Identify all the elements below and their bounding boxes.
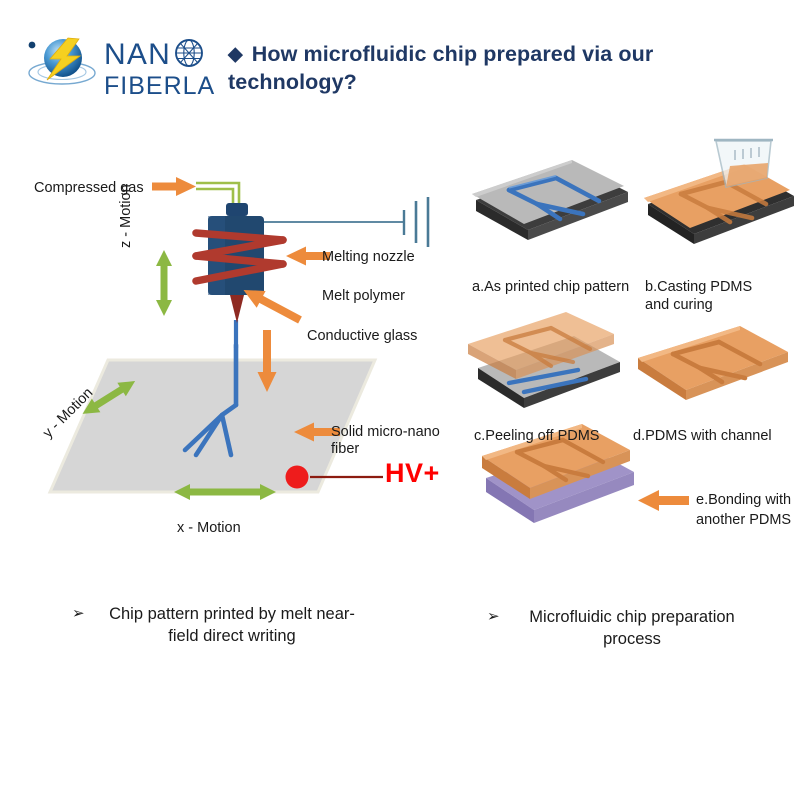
logo-wordmark-nano: NAN xyxy=(104,38,171,71)
arrow-melt-polymer xyxy=(239,282,304,329)
footer-left-line1: Chip pattern printed by melt near- xyxy=(109,605,355,623)
label-conductive-glass: Conductive glass xyxy=(307,328,417,345)
nano-sphere-lightning-icon xyxy=(29,38,95,84)
hv-electrode xyxy=(286,466,384,489)
caption-step-c: c.Peeling off PDMS xyxy=(474,427,599,445)
caption-step-b-line2: and curing xyxy=(645,296,713,314)
caption-step-e-line1: e.Bonding with xyxy=(696,491,791,509)
footer-bullet-left: ➢ Chip pattern printed by melt near- fie… xyxy=(72,603,392,648)
caption-step-b-line1: b.Casting PDMS xyxy=(645,278,752,296)
z-motion-arrow xyxy=(156,250,172,316)
footer-bullet-right: ➢ Microfluidic chip preparation process xyxy=(487,606,777,651)
page-title-text: How microfluidic chip prepared via our t… xyxy=(228,42,653,94)
caption-step-e-line2: another PDMS xyxy=(696,511,791,529)
logo-wordmark-fiberlabs: FIBERLABS xyxy=(104,72,217,100)
label-z-motion: z - Motion xyxy=(118,184,134,248)
x-motion-arrow xyxy=(174,484,276,500)
label-solid-fiber-line1: Solid micro-nano xyxy=(331,424,440,441)
globe-grid-icon xyxy=(176,40,202,66)
conductive-glass-plate xyxy=(50,360,375,492)
gas-tube xyxy=(196,183,239,208)
caption-step-a: a.As printed chip pattern xyxy=(472,278,629,296)
nanofiberlabs-logo: NAN FIBERLABS xyxy=(22,28,217,100)
ground-connection xyxy=(264,197,428,247)
arrow-compressed-gas xyxy=(152,177,196,196)
caption-step-d: d.PDMS with channel xyxy=(633,427,772,445)
callout-arrows xyxy=(152,177,340,442)
arrow-bonding-callout xyxy=(638,490,689,511)
right-panels-graphics xyxy=(0,0,800,800)
footer-right-line2: process xyxy=(603,630,661,648)
page-title: ◆How microfluidic chip prepared via our … xyxy=(228,40,748,97)
diamond-bullet-icon: ◆ xyxy=(228,42,243,67)
label-y-motion: y - Motion xyxy=(40,385,96,441)
label-solid-fiber-line2: fiber xyxy=(331,441,359,458)
panel-a-chip xyxy=(472,160,628,240)
melting-nozzle-assembly xyxy=(196,203,283,323)
beaker-pouring-icon xyxy=(714,140,773,187)
label-high-voltage: HV+ xyxy=(385,458,440,489)
slide-root: NAN FIBERLABS ◆How microfluidic chip pre… xyxy=(0,0,800,800)
panel-c-peeling xyxy=(468,312,620,408)
arrow-conductive-glass xyxy=(258,330,277,392)
panel-b-casting xyxy=(644,140,794,244)
label-melting-nozzle: Melting nozzle xyxy=(322,249,415,266)
arrow-bullet-icon-left: ➢ xyxy=(72,604,85,624)
footer-left-line2: field direct writing xyxy=(168,627,295,645)
panel-d-pdms-channel xyxy=(638,326,788,400)
deposited-fiber-pattern xyxy=(185,345,236,455)
label-melt-polymer: Melt polymer xyxy=(322,288,405,305)
arrow-bullet-icon-right: ➢ xyxy=(487,607,500,627)
footer-right-line1: Microfluidic chip preparation xyxy=(529,608,734,626)
left-diagram-graphics xyxy=(0,0,800,800)
label-x-motion: x - Motion xyxy=(177,520,241,537)
